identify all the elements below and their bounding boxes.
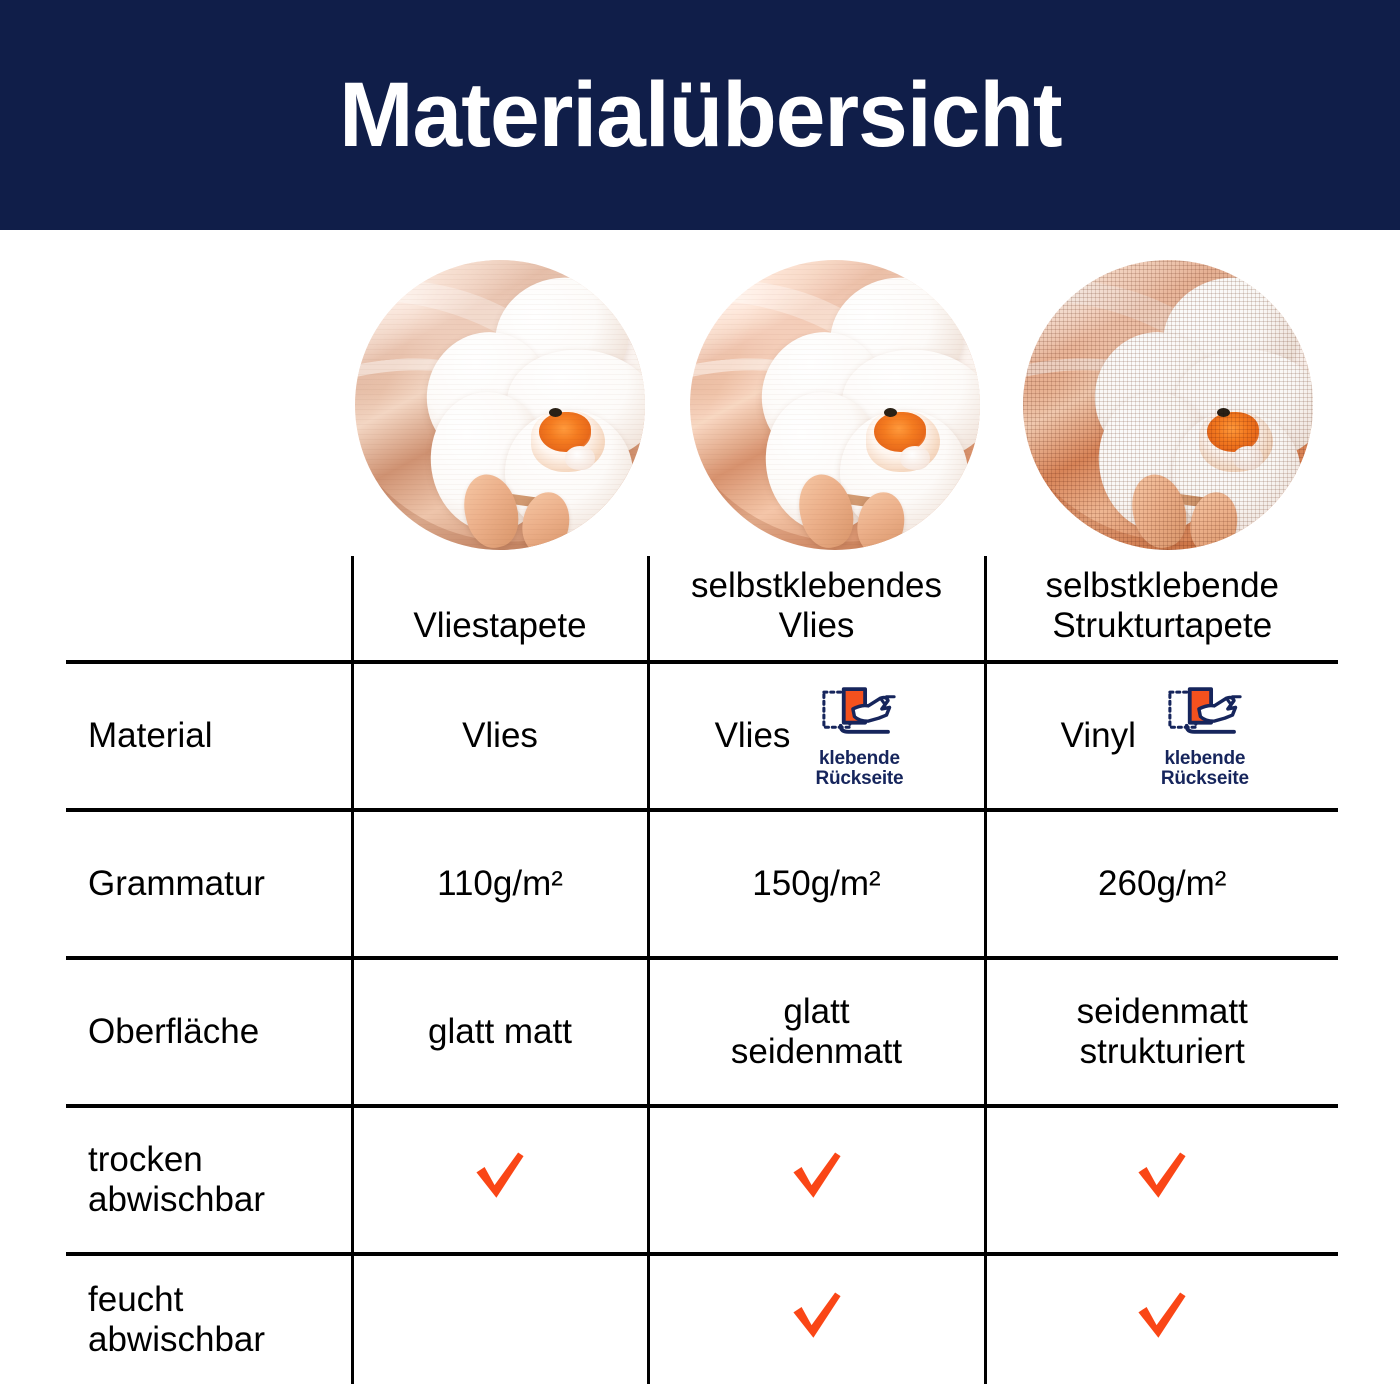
sample-strukturtapete	[1023, 260, 1313, 550]
orchid-flower-graphic	[690, 260, 980, 550]
row-label-feucht-abwischbar: feucht abwischbar	[66, 1254, 352, 1384]
row-label-trocken-abwischbar: trocken abwischbar	[66, 1106, 352, 1254]
flower-lip-tip	[565, 446, 595, 470]
cell-trocken-vliestapete	[352, 1106, 648, 1254]
flower-lip-tip	[1233, 446, 1263, 470]
cell-feucht-selbstklebendes-vlies	[648, 1254, 985, 1384]
table-row-feucht-abwischbar: feucht abwischbar	[66, 1254, 1338, 1384]
material-sample-images	[0, 258, 1400, 558]
peel-off-backing-icon	[820, 710, 898, 749]
cell-grammatur-strukturtapete: 260g/m²	[985, 810, 1338, 958]
checkmark-icon	[1133, 1287, 1191, 1345]
checkmark-icon	[788, 1147, 846, 1205]
page-title: Materialübersicht	[339, 69, 1061, 161]
cell-feucht-strukturtapete	[985, 1254, 1338, 1384]
cell-trocken-selbstklebendes-vlies	[648, 1106, 985, 1254]
column-header-strukturtapete: selbstklebende Strukturtapete	[985, 556, 1338, 662]
sample-vliestapete	[355, 260, 645, 550]
cell-oberflaeche-selbstklebendes-vlies: glatt seidenmatt	[648, 958, 985, 1106]
table-row-grammatur: Grammatur 110g/m² 150g/m² 260g/m²	[66, 810, 1338, 958]
cell-oberflaeche-strukturtapete: seidenmatt strukturiert	[985, 958, 1338, 1106]
table-corner-cell	[66, 556, 352, 662]
cell-feucht-vliestapete	[352, 1254, 648, 1384]
checkmark-icon	[471, 1147, 529, 1205]
table-row-trocken-abwischbar: trocken abwischbar	[66, 1106, 1338, 1254]
checkmark-icon	[1133, 1147, 1191, 1205]
page-header-banner: Materialübersicht	[0, 0, 1400, 230]
badge-line-2: Rückseite	[1146, 769, 1264, 789]
column-header-vliestapete: Vliestapete	[352, 556, 648, 662]
checkmark-icon	[788, 1287, 846, 1345]
orchid-flower-graphic	[1023, 260, 1313, 550]
cell-text: Vinyl	[1061, 716, 1136, 756]
row-label-material: Material	[66, 662, 352, 810]
row-label-oberflaeche: Oberfläche	[66, 958, 352, 1106]
flower-column	[549, 408, 562, 417]
cell-material-vliestapete: Vlies	[352, 662, 648, 810]
cell-text: Vlies	[462, 716, 538, 755]
sticky-back-badge: klebende Rückseite	[1146, 683, 1264, 789]
row-label-grammatur: Grammatur	[66, 810, 352, 958]
column-header-selbstklebendes-vlies: selbstklebendes Vlies	[648, 556, 985, 662]
flower-lip-tip	[900, 446, 930, 470]
cell-oberflaeche-vliestapete: glatt matt	[352, 958, 648, 1106]
cell-trocken-strukturtapete	[985, 1106, 1338, 1254]
cell-grammatur-vliestapete: 110g/m²	[352, 810, 648, 958]
badge-line-2: Rückseite	[800, 769, 918, 789]
table-row-oberflaeche: Oberfläche glatt matt glatt seidenmatt s…	[66, 958, 1338, 1106]
flower-column	[1217, 408, 1230, 417]
sticky-back-badge: klebende Rückseite	[800, 683, 918, 789]
table-header-row: Vliestapete selbstklebendes Vlies selbst…	[66, 556, 1338, 662]
cell-grammatur-selbstklebendes-vlies: 150g/m²	[648, 810, 985, 958]
table-row-material: Material Vlies Vlies	[66, 662, 1338, 810]
material-comparison-table: Vliestapete selbstklebendes Vlies selbst…	[66, 556, 1338, 1384]
badge-line-1: klebende	[1146, 749, 1264, 769]
cell-material-strukturtapete: Vinyl	[985, 662, 1338, 810]
flower-column	[884, 408, 897, 417]
badge-line-1: klebende	[800, 749, 918, 769]
sample-selbstklebendes-vlies	[690, 260, 980, 550]
cell-material-selbstklebendes-vlies: Vlies	[648, 662, 985, 810]
cell-text: Vlies	[715, 716, 791, 756]
peel-off-backing-icon	[1166, 710, 1244, 749]
orchid-flower-graphic	[355, 260, 645, 550]
